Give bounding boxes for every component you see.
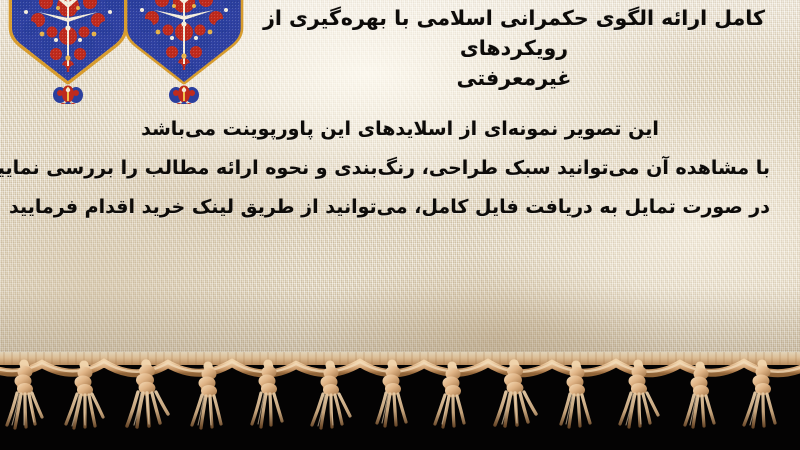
title-line-1: کامل ارائه الگوی حکمرانی اسلامی با بهره‌… — [236, 3, 792, 63]
body-line-1: این تصویر نمونه‌ای از اسلایدهای این پاور… — [30, 110, 770, 149]
body-line-2: با مشاهده آن می‌توانید سبک طراحی، رنگ‌بن… — [30, 149, 770, 188]
body-line-3: در صورت تمایل به دریافت فایل کامل، می‌تو… — [30, 188, 770, 227]
persian-medallion-pendant-left-icon — [8, 0, 128, 104]
slide-canvas: کامل ارائه الگوی حکمرانی اسلامی با بهره‌… — [0, 0, 800, 450]
slide-title: کامل ارائه الگوی حکمرانی اسلامی با بهره‌… — [236, 3, 792, 93]
slide-body-text: این تصویر نمونه‌ای از اسلایدهای این پاور… — [30, 110, 770, 227]
persian-medallion-pendant-right-icon — [124, 0, 244, 104]
title-line-2: غیرمعرفتی — [236, 63, 792, 93]
carpet-tassel-fringe — [0, 352, 800, 450]
